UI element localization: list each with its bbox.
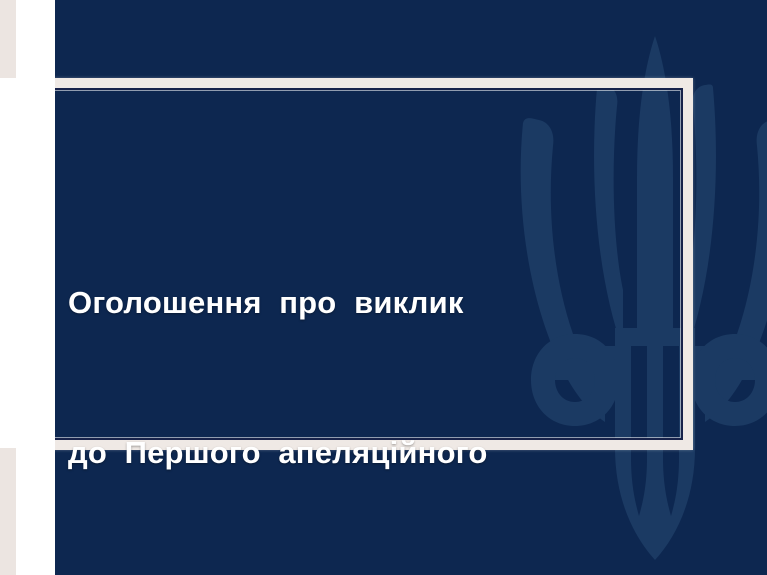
headline-line-2: до Першого апеляційного bbox=[68, 428, 668, 478]
announcement-banner: Оголошення про виклик до Першого апеляці… bbox=[0, 0, 767, 575]
headline-line-1: Оголошення про виклик bbox=[68, 278, 668, 328]
left-band-notch bbox=[0, 78, 42, 448]
page-title: Оголошення про виклик до Першого апеляці… bbox=[68, 178, 668, 575]
